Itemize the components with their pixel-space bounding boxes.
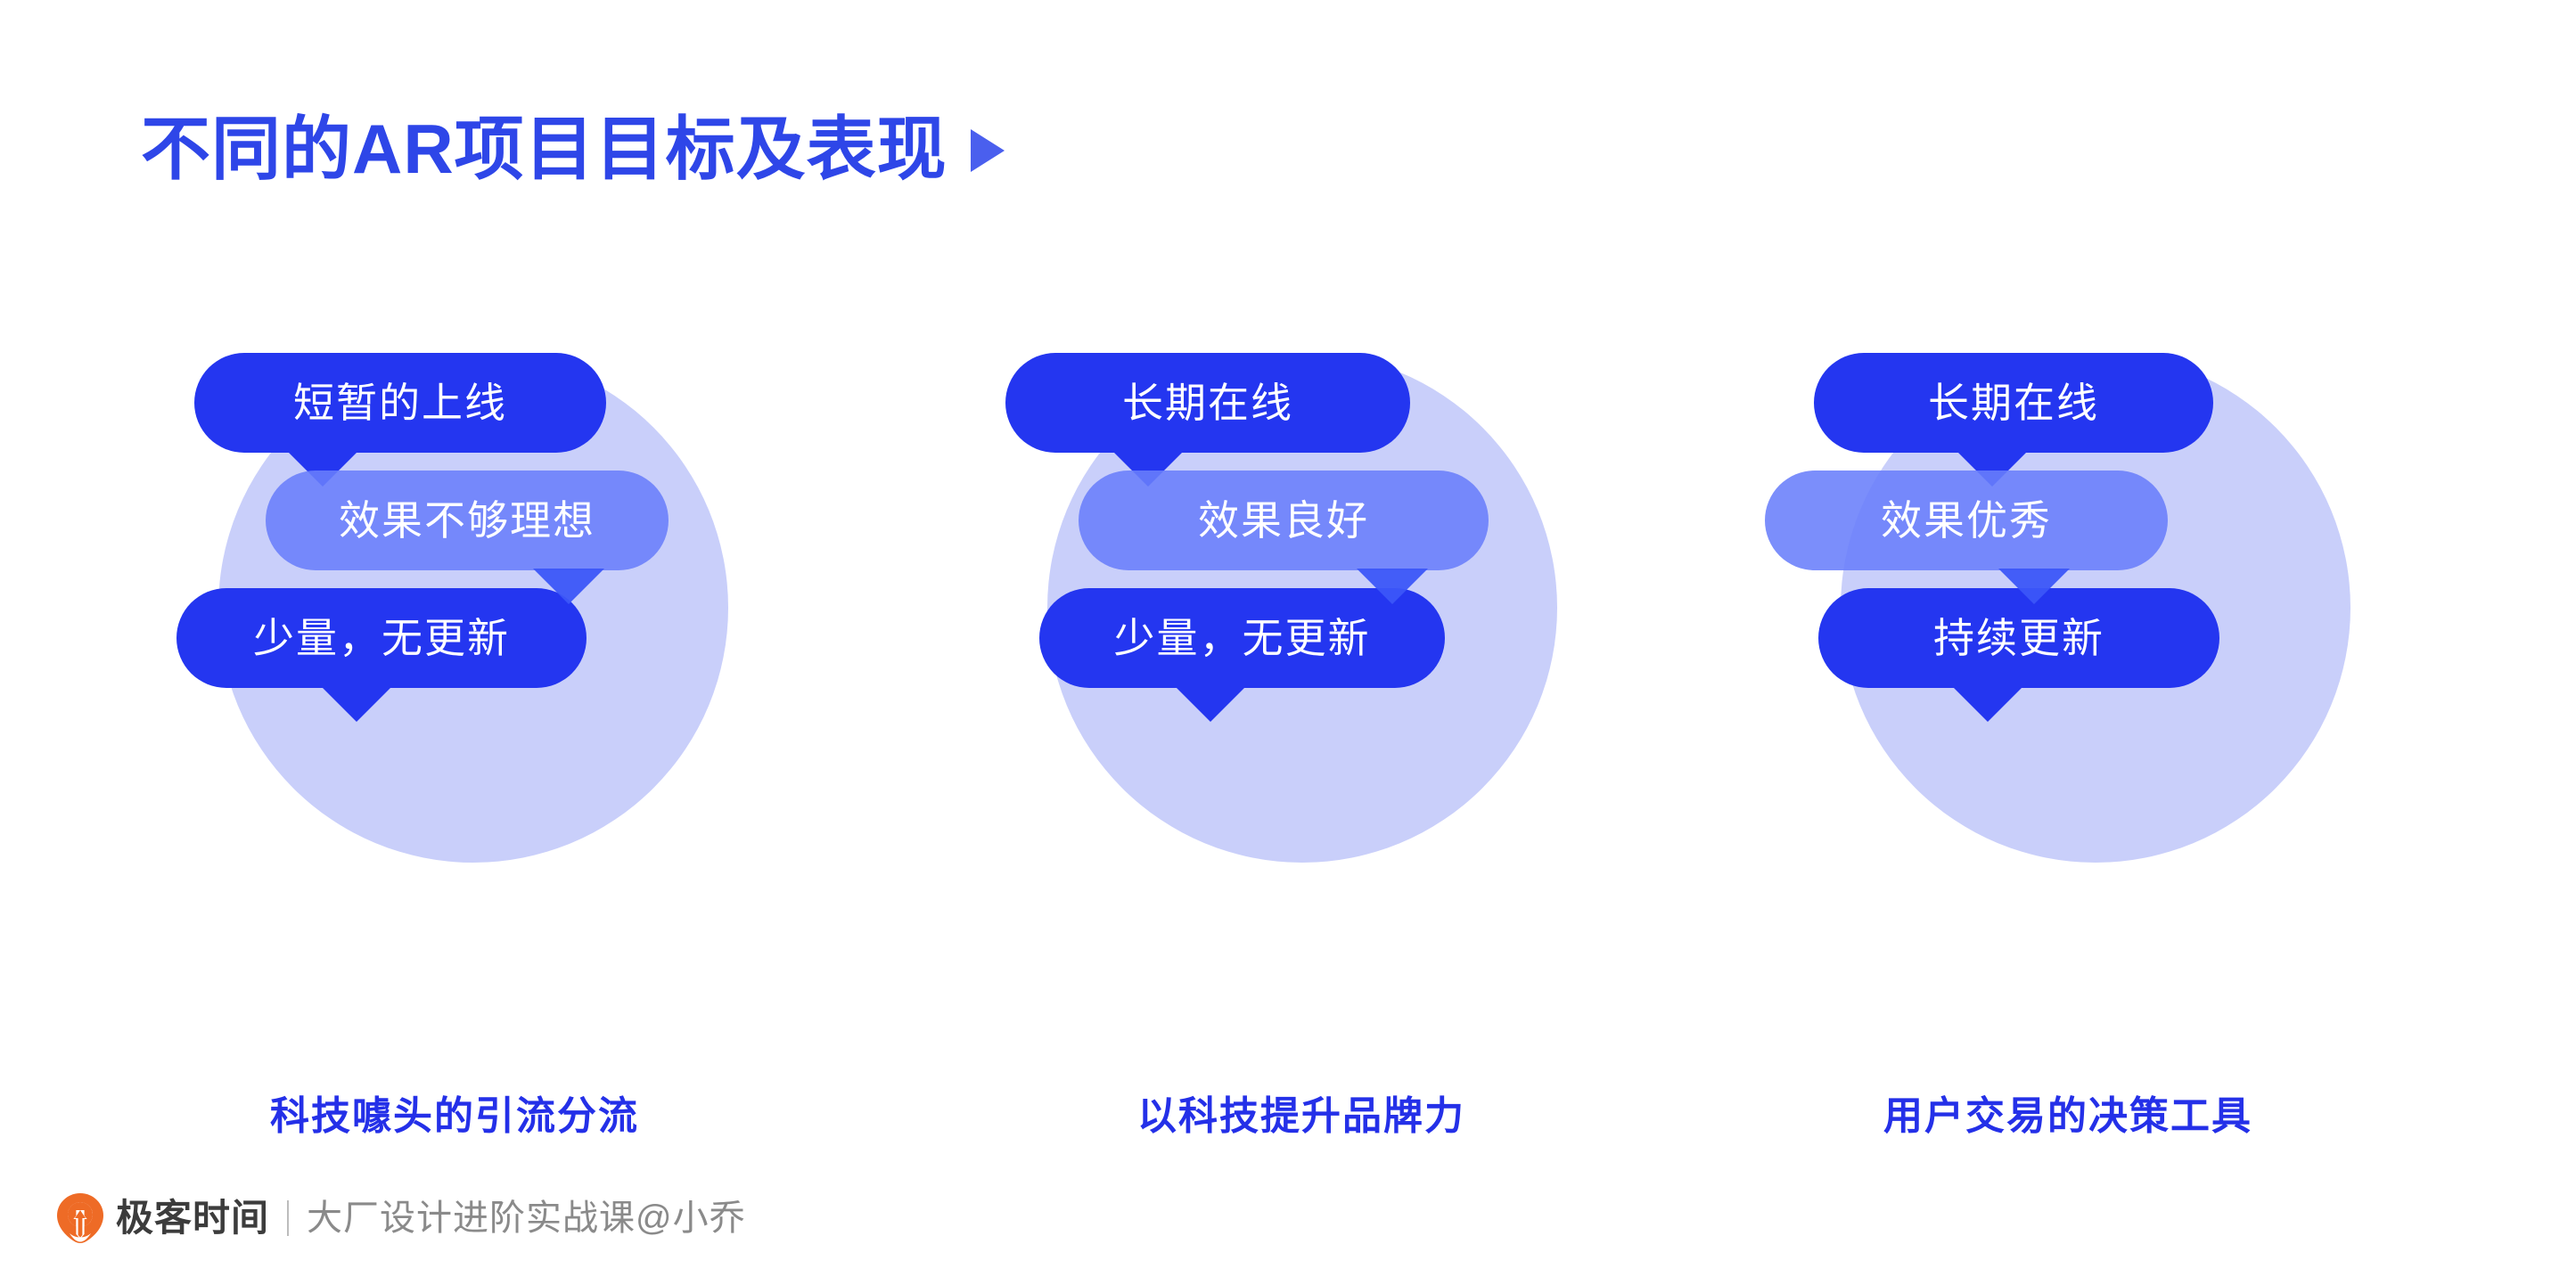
speech-bubble-label: 少量，无更新 (1114, 618, 1371, 659)
group-caption: 科技噱头的引流分流 (134, 1084, 775, 1141)
speech-bubble-label: 效果良好 (1198, 500, 1369, 541)
speech-bubble-label: 短暂的上线 (293, 382, 507, 423)
course-name: 大厂设计进阶实战课@小乔 (307, 1200, 746, 1236)
group-caption: 用户交易的决策工具 (1747, 1084, 2389, 1141)
speech-bubble: 少量，无更新 (176, 588, 587, 688)
speech-bubble-tail-icon (1357, 569, 1428, 604)
speech-bubble: 效果不够理想 (266, 471, 669, 570)
speech-bubble-label: 长期在线 (1928, 382, 2099, 423)
footer: 极客时间 大厂设计进阶实战课@小乔 (55, 1191, 746, 1246)
speech-bubble: 效果优秀 (1765, 471, 2168, 570)
speech-bubble-label: 效果不够理想 (339, 500, 595, 541)
footer-divider (287, 1200, 289, 1236)
group-item: 长期在线 效果优秀 持续更新 用户交易的决策工具 (1774, 353, 2416, 1012)
speech-bubble-tail-icon (1952, 686, 2023, 722)
group-caption: 以科技提升品牌力 (980, 1084, 1622, 1141)
speech-bubble-tail-icon (1998, 569, 2070, 604)
speech-bubble-label: 少量，无更新 (253, 618, 510, 659)
speech-bubble: 短暂的上线 (194, 353, 606, 453)
speech-bubble: 长期在线 (1814, 353, 2213, 453)
speech-bubble-label: 效果优秀 (1881, 500, 2052, 541)
group-item: 短暂的上线 效果不够理想 少量，无更新 科技噱头的引流分流 (152, 353, 793, 1012)
group-item: 长期在线 效果良好 少量，无更新 以科技提升品牌力 (980, 353, 1622, 1012)
brand-name: 极客时间 (116, 1199, 269, 1237)
speech-bubble-label: 持续更新 (1933, 618, 2104, 659)
bubble-stack: 短暂的上线 效果不够理想 少量，无更新 (152, 353, 793, 888)
bubble-stack: 长期在线 效果优秀 持续更新 (1774, 353, 2416, 888)
speech-bubble: 效果良好 (1079, 471, 1489, 570)
geekbang-logo-icon (55, 1192, 105, 1244)
speech-bubble-tail-icon (533, 569, 604, 604)
groups-container: 短暂的上线 效果不够理想 少量，无更新 科技噱头的引流分流 长期在线 效果良好 (0, 0, 2576, 1285)
speech-bubble-tail-icon (1175, 686, 1246, 722)
speech-bubble-label: 长期在线 (1122, 382, 1293, 423)
speech-bubble: 长期在线 (1005, 353, 1410, 453)
bubble-stack: 长期在线 效果良好 少量，无更新 (980, 353, 1622, 888)
speech-bubble-tail-icon (321, 686, 392, 722)
